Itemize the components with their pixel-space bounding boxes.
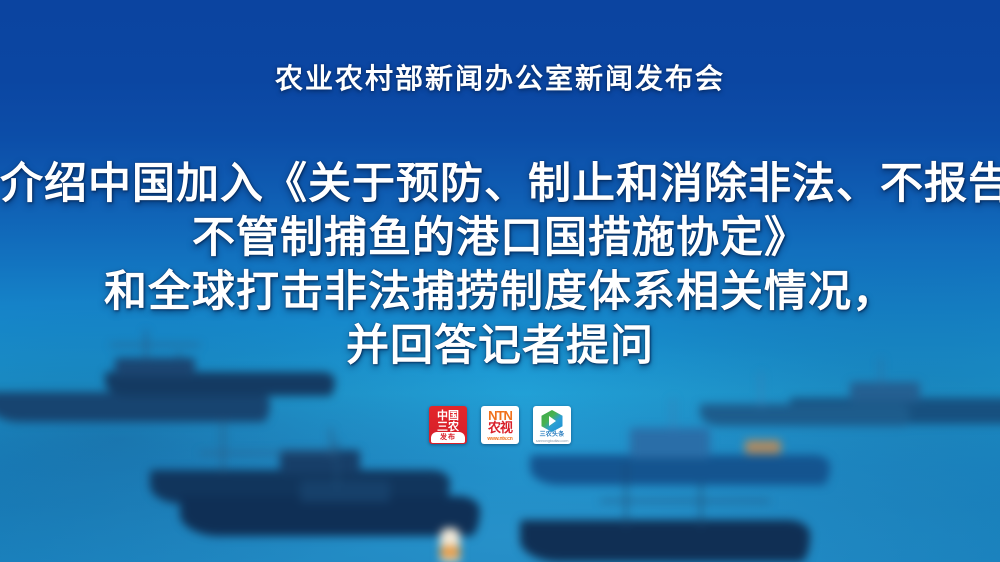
title-line-4: 并回答记者提问 (0, 320, 1000, 374)
logo-sannong-toutiao[interactable]: 三农头条 sannongtoutiao.com (533, 406, 571, 444)
press-conference-slide: 农业农村部新闻办公室新闻发布会 介绍中国加入《关于预防、制止和消除非法、不报告、… (0, 0, 1000, 562)
title-line-2: 不管制捕鱼的港口国措施协定》 (0, 212, 1000, 266)
page-header-title: 农业农村部新闻办公室新闻发布会 (0, 57, 1000, 97)
logo-zhongguo-sannong[interactable]: 中国 三农 发布 (429, 406, 467, 444)
logo-toutiao-url: sannongtoutiao.com (533, 438, 571, 443)
logo-ntv-name: 农视 (481, 421, 519, 434)
logo-ntv-nongshi[interactable]: NTN 农视 www.ntv.cn (481, 406, 519, 444)
logo-sannong-banner: 发布 (431, 432, 465, 443)
title-line-1: 介绍中国加入《关于预防、制止和消除非法、不报告、 (0, 158, 1000, 212)
logo-ntv-url: www.ntv.cn (481, 436, 519, 442)
hexagon-play-icon (542, 410, 563, 432)
title-line-3: 和全球打击非法捕捞制度体系相关情况， (0, 266, 1000, 320)
page-title: 介绍中国加入《关于预防、制止和消除非法、不报告、 不管制捕鱼的港口国措施协定》 … (0, 158, 1000, 374)
logo-row: 中国 三农 发布 NTN 农视 www.ntv.cn 三农头条 sannongt… (0, 406, 1000, 444)
